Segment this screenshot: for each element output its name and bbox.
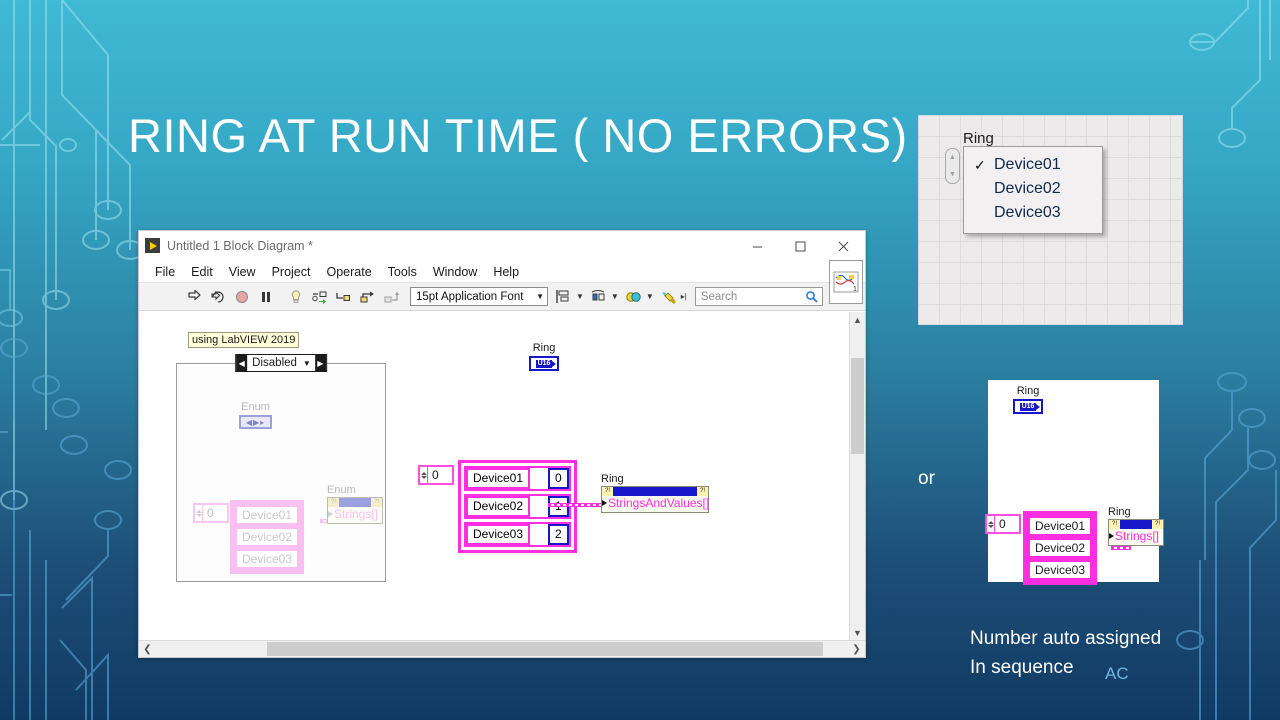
array-index-value: 0 (428, 467, 452, 483)
close-icon[interactable] (822, 231, 865, 261)
vertical-scrollbar[interactable]: ▲ ▼ (849, 312, 865, 640)
string-array-cell[interactable]: Device03 (235, 549, 299, 569)
snippet-index-value: 0 (995, 516, 1019, 532)
string-array-cell[interactable]: Device03 (1028, 560, 1092, 580)
cluster-string-value[interactable]: Device02 (466, 496, 530, 517)
ring-property-node-group: Ring ?!?! StringsAndValues[] (601, 473, 709, 513)
block-diagram-canvas[interactable]: using LabVIEW 2019 ◀ Disabled ▼ ▶ Enum ◀… (139, 312, 865, 657)
enum-property-node-group: Enum ?!?! Strings[] (327, 484, 383, 524)
menu-item-edit[interactable]: Edit (183, 263, 221, 281)
property-name: Strings[] (1109, 529, 1163, 545)
font-selector-value: 15pt Application Font (416, 291, 523, 303)
diagram-disable-structure[interactable]: ◀ Disabled ▼ ▶ Enum ◀▶▸ 0 Device01 (176, 363, 386, 582)
increment-decrement-icon[interactable]: ▲ ▼ (945, 148, 960, 184)
array-index-control[interactable]: 0 (418, 465, 454, 485)
snippet-ring-terminal-label: Ring (1013, 385, 1043, 397)
window-buttons (736, 231, 865, 261)
property-node-owner-label: Ring (601, 473, 709, 485)
cluster-spacer (530, 468, 548, 489)
labview-run-arrow-icon (145, 238, 160, 253)
scroll-down-icon[interactable]: ▼ (850, 625, 865, 640)
highlight-execution-icon[interactable] (285, 286, 307, 308)
snippet-ring-u16-terminal-icon[interactable]: U16 (1013, 399, 1043, 414)
chevron-down-icon[interactable]: ▼ (576, 292, 584, 301)
free-label-using-labview: using LabVIEW 2019 (188, 332, 299, 348)
ring-terminal-label: Ring (529, 342, 559, 354)
cluster-numeric-value[interactable]: 2 (548, 524, 569, 545)
case-selector-value: Disabled (247, 357, 303, 369)
toolbar-more-icon[interactable]: ▸| (681, 292, 687, 301)
scroll-left-icon[interactable]: ❮ (139, 641, 156, 657)
pause-icon[interactable] (255, 286, 277, 308)
increment-decrement-icon[interactable] (195, 505, 203, 521)
or-label: or (918, 468, 935, 490)
chevron-down-icon[interactable]: ▼ (303, 359, 315, 368)
chevron-down-icon[interactable]: ▼ (611, 292, 619, 301)
ring-terminal-group: Ring U16 (529, 342, 559, 371)
ring-terminal-type: U16 (536, 360, 553, 368)
increment-decrement-icon[interactable] (987, 516, 995, 532)
front-panel-ring-label: Ring (963, 130, 994, 147)
maximize-icon[interactable] (779, 231, 822, 261)
ring-stringsandvalues-property-node[interactable]: ?!?! StringsAndValues[] (601, 486, 709, 513)
run-continuously-icon[interactable] (207, 286, 229, 308)
snippet-ring-terminal-type: U16 (1020, 403, 1037, 411)
ring-option-label: Device02 (994, 180, 1061, 197)
numeric-value: 0 (203, 505, 227, 521)
cluster-string-value[interactable]: Device03 (466, 524, 530, 545)
disabled-numeric-control[interactable]: 0 (193, 503, 229, 523)
menu-item-view[interactable]: View (221, 263, 264, 281)
cluster-spacer (530, 524, 548, 545)
increment-decrement-icon[interactable] (420, 467, 428, 483)
wire-segment (1111, 546, 1131, 550)
property-node-owner-label: Enum (327, 484, 383, 496)
string-array-cell[interactable]: Device01 (1028, 516, 1092, 536)
check-icon: ✓ (974, 156, 986, 174)
snippet-string-array[interactable]: Device01 Device02 Device03 (1023, 511, 1097, 585)
svg-text:1: 1 (853, 286, 857, 293)
ring-option-device03[interactable]: Device03 (964, 201, 1102, 225)
disabled-string-array[interactable]: Device01 Device02 Device03 (230, 500, 304, 574)
font-selector[interactable]: 15pt Application Font ▼ (410, 287, 548, 306)
menu-item-window[interactable]: Window (425, 263, 485, 281)
scroll-up-icon[interactable]: ▲ (850, 312, 865, 327)
string-array-cell[interactable]: Device02 (1028, 538, 1092, 558)
next-case-icon[interactable]: ▶ (315, 355, 326, 371)
snippet-strings-property-node[interactable]: ?!?! Strings[] (1108, 519, 1164, 546)
ring-u16-terminal-icon[interactable]: U16 (529, 356, 559, 371)
window-titlebar: Untitled 1 Block Diagram * (139, 231, 865, 261)
scroll-right-icon[interactable]: ❯ (848, 641, 865, 657)
cluster-row[interactable]: Device01 0 (464, 466, 571, 491)
horizontal-scroll-thumb[interactable] (267, 642, 823, 656)
property-node-owner-label: Ring (1108, 506, 1164, 518)
toolbar: 15pt Application Font ▼ ▼ ▼ ▼ ▸| Search … (139, 283, 865, 311)
run-arrow-icon[interactable] (183, 286, 205, 308)
menu-item-help[interactable]: Help (485, 263, 527, 281)
step-over-icon[interactable] (357, 286, 379, 308)
window-title: Untitled 1 Block Diagram * (167, 239, 313, 253)
ring-dropdown-menu[interactable]: ✓ Device01 Device02 Device03 (963, 146, 1103, 234)
step-into-icon[interactable] (333, 286, 355, 308)
context-help-icon[interactable]: 1 (829, 260, 863, 304)
retain-wire-values-icon[interactable] (309, 286, 331, 308)
magnifier-icon[interactable] (801, 287, 823, 306)
note-line-1: Number auto assigned (970, 628, 1161, 650)
labview-block-diagram-window: Untitled 1 Block Diagram * File Edit Vie… (138, 230, 866, 658)
cluster-row[interactable]: Device03 2 (464, 522, 571, 547)
property-name: Strings[] (328, 507, 382, 523)
abort-execution-icon[interactable] (231, 286, 253, 308)
ring-option-label: Device01 (994, 156, 1061, 173)
step-out-icon[interactable] (381, 286, 403, 308)
enum-terminal-group: Enum ◀▶▸ (239, 401, 272, 429)
search-input[interactable]: Search (695, 287, 801, 306)
string-array-cell[interactable]: Device01 (235, 505, 299, 525)
distribute-objects-icon[interactable] (588, 286, 610, 308)
ring-option-device02[interactable]: Device02 (964, 177, 1102, 201)
menu-item-project[interactable]: Project (264, 263, 319, 281)
cluster-string-value[interactable]: Device01 (466, 468, 530, 489)
menu-bar: File Edit View Project Operate Tools Win… (139, 261, 865, 283)
property-name: StringsAndValues[] (602, 496, 708, 512)
horizontal-scrollbar[interactable]: ❮ ❯ (139, 640, 865, 657)
cluster-spacer (530, 496, 548, 517)
snippet-index-control[interactable]: 0 (985, 514, 1021, 534)
minimize-icon[interactable] (736, 231, 779, 261)
spin-down-arrow[interactable]: ▼ (949, 171, 956, 178)
spin-up-arrow[interactable]: ▲ (949, 154, 956, 161)
align-objects-icon[interactable] (553, 286, 575, 308)
cluster-numeric-value[interactable]: 0 (548, 468, 569, 489)
vertical-scroll-thumb[interactable] (851, 358, 864, 454)
snippet-property-node-group: Ring ?!?! Strings[] (1108, 506, 1164, 546)
note-line-2: In sequence (970, 657, 1074, 679)
menu-item-tools[interactable]: Tools (380, 263, 425, 281)
ring-option-label: Device03 (994, 204, 1061, 221)
string-array-cell[interactable]: Device02 (235, 527, 299, 547)
snippet-ring-terminal-group: Ring U16 (1013, 385, 1043, 414)
chevron-down-icon[interactable]: ▼ (646, 292, 654, 301)
block-diagram-snippet-panel: Ring U16 0 Device01 Device02 Device03 Ri… (988, 380, 1159, 582)
resize-objects-icon[interactable] (623, 286, 645, 308)
menu-item-file[interactable]: File (147, 263, 183, 281)
front-panel-ring-runtime: Ring ▲ ▼ ✓ Device01 Device02 Device03 (918, 115, 1183, 325)
disable-structure-case-selector[interactable]: ◀ Disabled ▼ ▶ (235, 354, 327, 372)
page-title: RING AT RUN TIME ( NO ERRORS) (128, 108, 908, 163)
author-initials: AC (1105, 664, 1129, 684)
menu-item-operate[interactable]: Operate (318, 263, 379, 281)
chevron-down-icon: ▼ (530, 292, 544, 301)
previous-case-icon[interactable]: ◀ (236, 355, 247, 371)
enum-strings-property-node[interactable]: ?!?! Strings[] (327, 497, 383, 524)
wire-segment (548, 503, 606, 507)
ring-option-device01[interactable]: ✓ Device01 (964, 153, 1102, 177)
enum-terminal-icon[interactable]: ◀▶▸ (239, 415, 272, 429)
clean-up-diagram-icon[interactable] (658, 286, 680, 308)
enum-terminal-label: Enum (239, 401, 272, 413)
